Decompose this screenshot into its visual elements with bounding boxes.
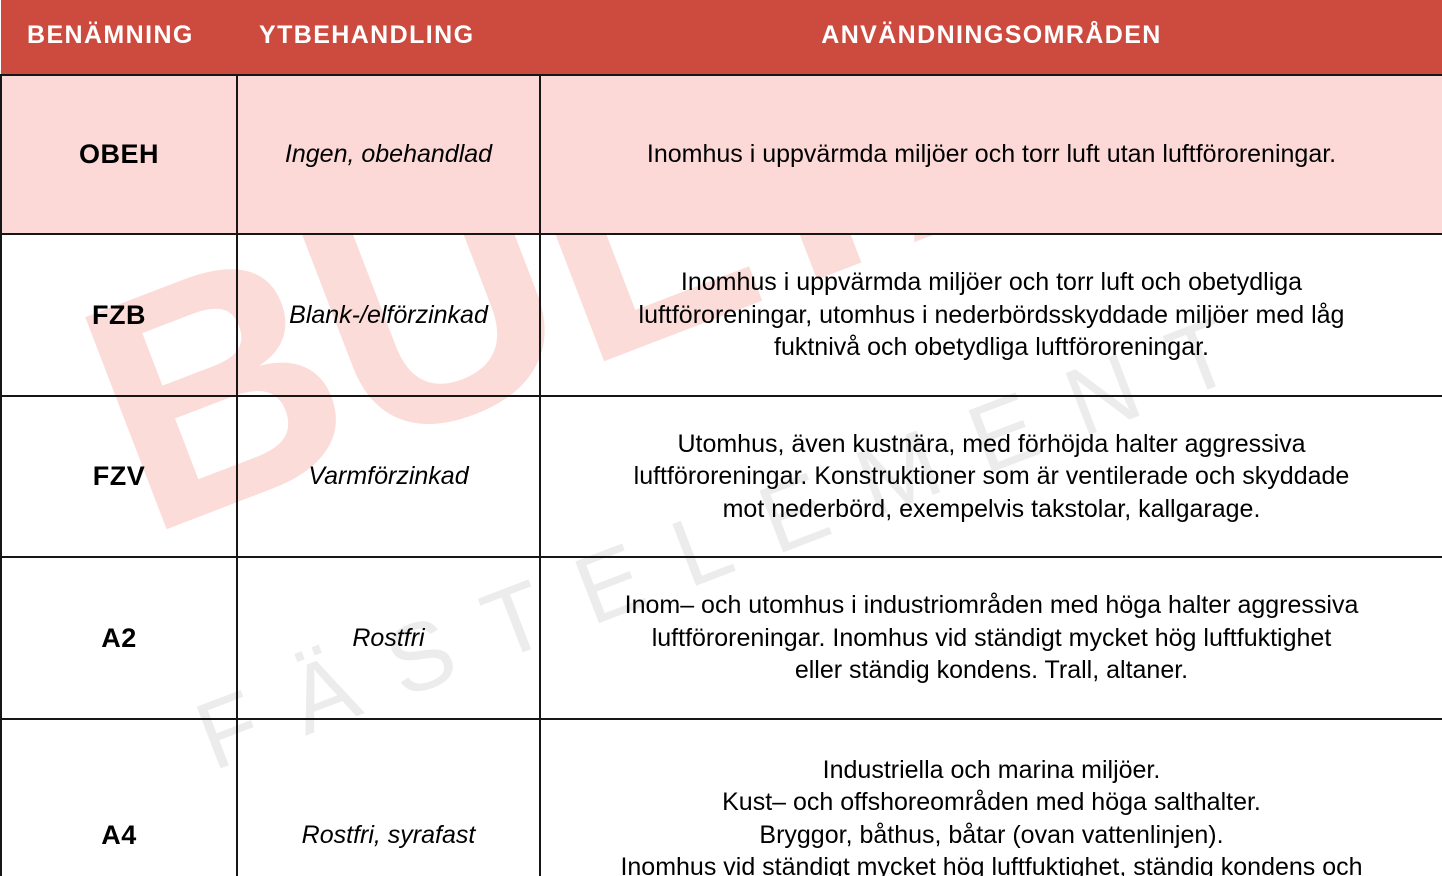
cell-code: A4 — [1, 719, 237, 876]
table-row: OBEH Ingen, obehandlad Inomhus i uppvärm… — [1, 75, 1442, 234]
table-header-row: BENÄMNING YTBEHANDLING ANVÄNDNINGSOMRÅDE… — [1, 0, 1442, 75]
table-header: BENÄMNING YTBEHANDLING ANVÄNDNINGSOMRÅDE… — [1, 0, 1442, 75]
usage-line: Utomhus, även kustnära, med förhöjda hal… — [567, 428, 1416, 461]
table-row: A2 Rostfri Inom– och utomhus i industrio… — [1, 557, 1442, 719]
column-header-anvandningsomraden: ANVÄNDNINGSOMRÅDEN — [540, 0, 1442, 75]
cell-code: A2 — [1, 557, 237, 719]
cell-code: OBEH — [1, 75, 237, 234]
usage-line: luftföroreningar. Konstruktioner som är … — [567, 460, 1416, 493]
cell-usage-areas: Industriella och marina miljöer. Kust– o… — [540, 719, 1442, 876]
usage-line: Inomhus i uppvärmda miljöer och torr luf… — [567, 138, 1416, 171]
usage-line: fuktnivå och obetydliga luftföroreningar… — [567, 331, 1416, 364]
surface-treatment-table: BENÄMNING YTBEHANDLING ANVÄNDNINGSOMRÅDE… — [0, 0, 1442, 876]
usage-line: Industriella och marina miljöer. — [567, 754, 1416, 787]
usage-line: Kust– och offshoreområden med höga salth… — [567, 786, 1416, 819]
usage-line: Inom– och utomhus i industriområden med … — [567, 589, 1416, 622]
cell-usage-areas: Inomhus i uppvärmda miljöer och torr luf… — [540, 75, 1442, 234]
cell-surface-treatment: Varmförzinkad — [237, 396, 540, 557]
usage-line: Bryggor, båthus, båtar (ovan vattenlinje… — [567, 819, 1416, 852]
usage-line: Inomhus i uppvärmda miljöer och torr luf… — [567, 266, 1416, 299]
table-row: A4 Rostfri, syrafast Industriella och ma… — [1, 719, 1442, 876]
column-header-ytbehandling: YTBEHANDLING — [237, 0, 540, 75]
surface-treatment-table-root: BULTAB FÄSTELEMENT BENÄMNING YTBEHANDLIN… — [0, 0, 1442, 876]
usage-line: mot nederbörd, exempelvis takstolar, kal… — [567, 493, 1416, 526]
cell-surface-treatment: Blank-/elförzinkad — [237, 234, 540, 396]
cell-usage-areas: Inom– och utomhus i industriområden med … — [540, 557, 1442, 719]
cell-code: FZV — [1, 396, 237, 557]
column-header-benamning: BENÄMNING — [1, 0, 237, 75]
cell-surface-treatment: Rostfri, syrafast — [237, 719, 540, 876]
cell-surface-treatment: Rostfri — [237, 557, 540, 719]
cell-code: FZB — [1, 234, 237, 396]
cell-usage-areas: Utomhus, även kustnära, med förhöjda hal… — [540, 396, 1442, 557]
table-row: FZV Varmförzinkad Utomhus, även kustnära… — [1, 396, 1442, 557]
usage-line: luftföroreningar, utomhus i nederbördssk… — [567, 299, 1416, 332]
table-body: OBEH Ingen, obehandlad Inomhus i uppvärm… — [1, 75, 1442, 876]
usage-line: eller ständig kondens. Trall, altaner. — [567, 654, 1416, 687]
table-row: FZB Blank-/elförzinkad Inomhus i uppvärm… — [1, 234, 1442, 396]
cell-usage-areas: Inomhus i uppvärmda miljöer och torr luf… — [540, 234, 1442, 396]
usage-line: luftföroreningar. Inomhus vid ständigt m… — [567, 622, 1416, 655]
cell-surface-treatment: Ingen, obehandlad — [237, 75, 540, 234]
usage-line: Inomhus vid ständigt mycket hög luftfukt… — [567, 851, 1416, 876]
